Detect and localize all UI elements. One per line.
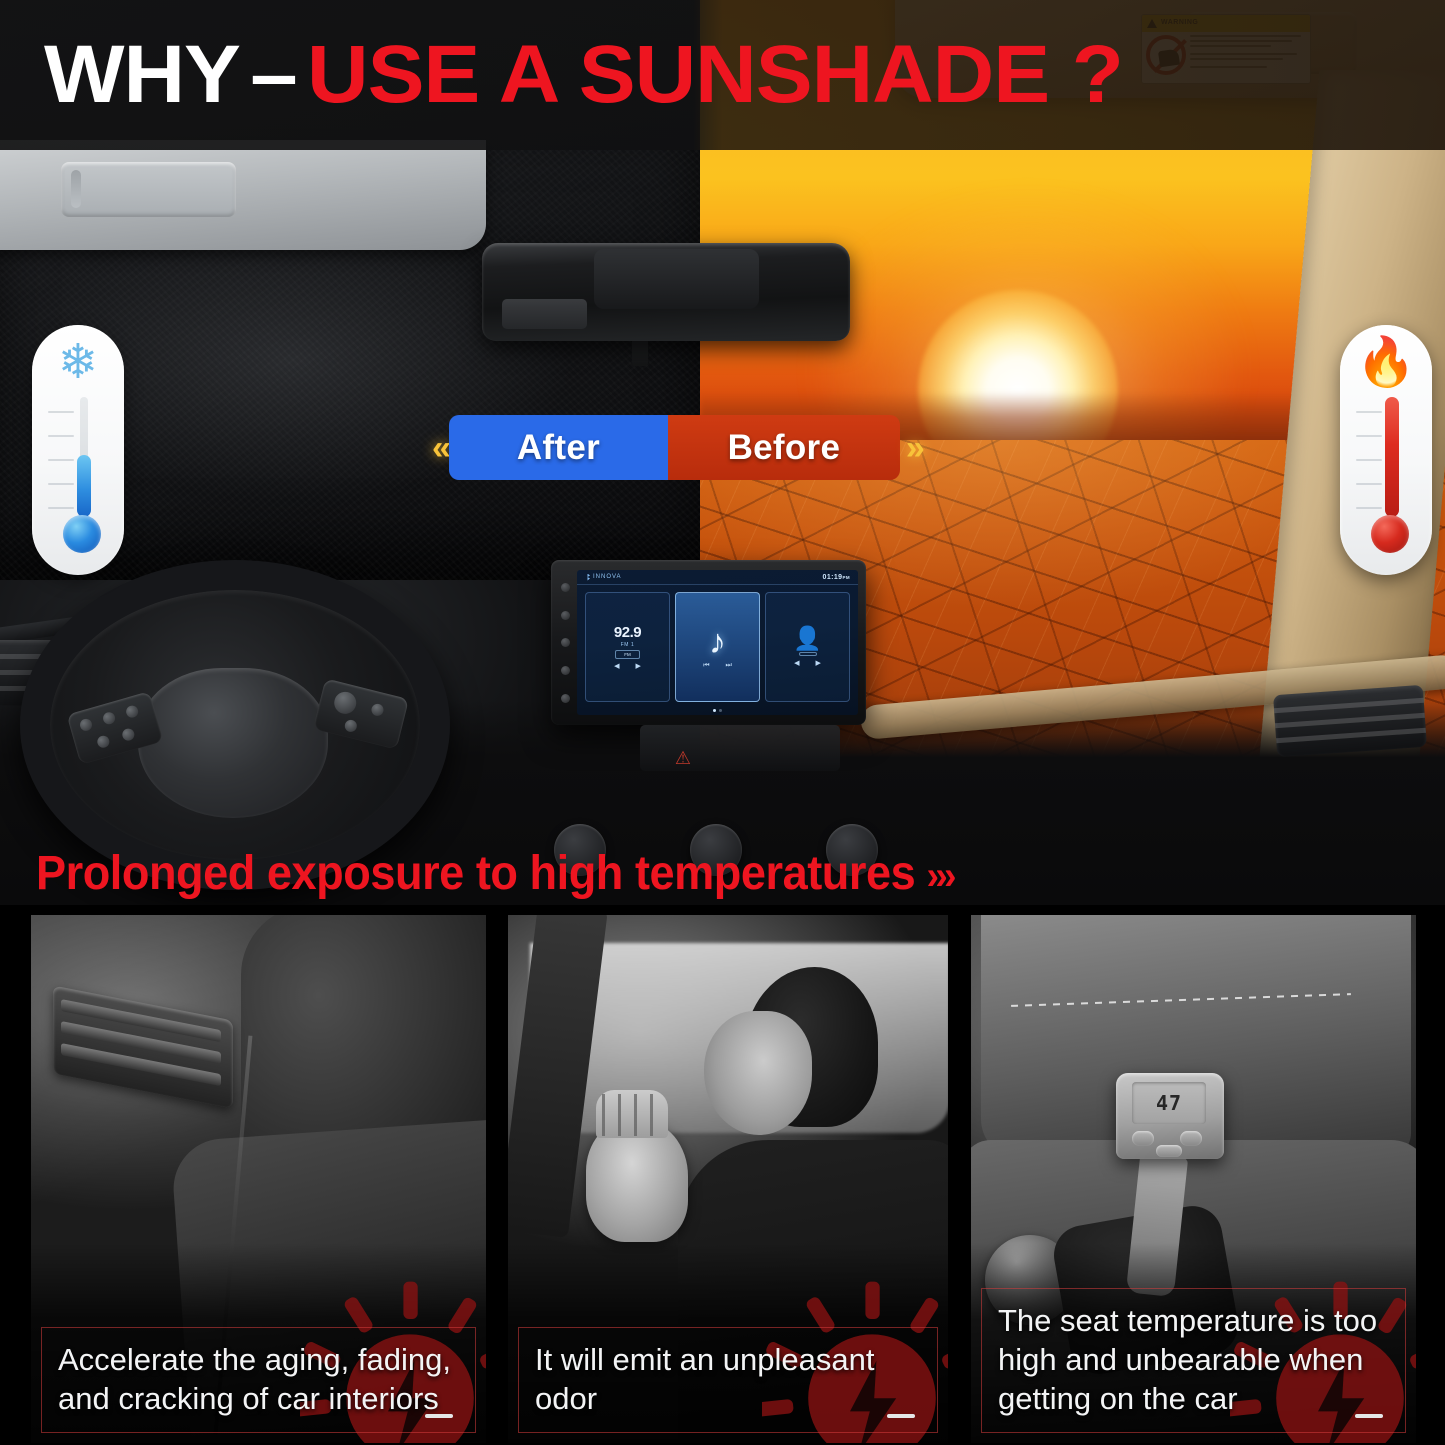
before-badge[interactable]: Before: [668, 415, 900, 480]
panel-caption: Accelerate the aging, fading, and cracki…: [58, 1340, 459, 1418]
radio-band: FM 1: [621, 642, 635, 648]
caption-box: It will emit an unpleasant odor: [518, 1327, 938, 1433]
dashboard-vent-icon: [53, 986, 233, 1109]
hazard-light-icon: ⚠: [668, 745, 698, 771]
head-unit-button-home[interactable]: [561, 694, 570, 703]
thermometer-hot: 🔥: [1340, 325, 1432, 575]
media-transport-arrows[interactable]: ⏮ ⏭: [703, 662, 732, 670]
thermometer-button-1: [1132, 1131, 1154, 1146]
benefit-panels: Accelerate the aging, fading, and cracki…: [0, 915, 1445, 1445]
title-use-a-sunshade: USE A SUNSHADE ?: [307, 29, 1123, 120]
subtitle-arrows-icon: ›››: [926, 854, 952, 898]
ir-thermometer-gun: 47: [1116, 1073, 1224, 1159]
panel-caption: The seat temperature is too high and unb…: [998, 1301, 1389, 1418]
caption-box: The seat temperature is too high and unb…: [981, 1288, 1406, 1433]
infotainment-head-unit[interactable]: INNOVA 01:19PM 92.9 FM 1 FM ◀ ▶: [551, 560, 866, 725]
tile-radio[interactable]: 92.9 FM 1 FM ◀ ▶: [585, 592, 670, 702]
radio-prev-icon[interactable]: ◀: [614, 662, 619, 670]
flame-icon: 🔥: [1340, 339, 1432, 387]
thermometer-cold-tube: [80, 397, 88, 517]
page-title: WHY–USE A SUNSHADE ?: [44, 34, 1123, 116]
head-unit-button-power[interactable]: [561, 583, 570, 592]
head-unit-button-back[interactable]: [561, 666, 570, 675]
thermometer-cold: ❄: [32, 325, 124, 575]
head-unit-page-dots[interactable]: [577, 706, 858, 715]
chevron-left-icon: «: [426, 431, 449, 465]
chevron-right-icon: »: [900, 431, 923, 465]
head-unit-clock: 01:19PM: [823, 574, 850, 581]
head-unit-screen[interactable]: INNOVA 01:19PM 92.9 FM 1 FM ◀ ▶: [577, 570, 858, 715]
page-title-band: WHY–USE A SUNSHADE ?: [0, 0, 1445, 150]
caption-dash: [1355, 1414, 1383, 1418]
phone-prev-icon[interactable]: ◀: [794, 659, 799, 667]
music-note-icon: ♪: [709, 625, 726, 659]
air-vent-right: [1273, 685, 1427, 757]
media-prev-icon[interactable]: ⏮: [703, 662, 709, 670]
phone-chip[interactable]: [799, 652, 817, 656]
product-infographic: WARNING: [0, 0, 1445, 1445]
thermometer-hot-tube: [1388, 397, 1396, 517]
waving-hand-icon: [586, 1120, 688, 1242]
thermometer-reading: 47: [1132, 1082, 1206, 1124]
head-unit-button-volume[interactable]: [561, 638, 570, 647]
visor-clip-left: [61, 162, 236, 217]
head-unit-brand: INNOVA: [585, 574, 622, 581]
thermometer-cold-bulb: [63, 515, 101, 553]
panel-seat-temp: 47: [971, 915, 1416, 1443]
snowflake-icon: ❄: [32, 339, 124, 387]
subtitle-text: Prolonged exposure to high temperatures: [36, 847, 915, 900]
phone-arrows[interactable]: ◀ ▶: [794, 659, 821, 667]
thermometer-hot-fill: [1385, 397, 1399, 517]
radio-frequency: 92.9: [614, 625, 641, 640]
title-dash: –: [250, 29, 296, 120]
media-next-icon[interactable]: ⏭: [726, 662, 732, 670]
panel-odor: It will emit an unpleasant odor: [508, 915, 948, 1443]
subtitle-band: Prolonged exposure to high temperatures›…: [0, 836, 1445, 911]
panel-aging: Accelerate the aging, fading, and cracki…: [31, 915, 486, 1443]
radio-preset-chip[interactable]: FM: [615, 650, 640, 659]
caption-box: Accelerate the aging, fading, and cracki…: [41, 1327, 476, 1433]
sun-visor-left: [0, 140, 486, 250]
after-badge[interactable]: After: [449, 415, 668, 480]
panel-caption: It will emit an unpleasant odor: [535, 1340, 921, 1418]
bluetooth-icon: [585, 574, 590, 581]
head-unit-tiles: 92.9 FM 1 FM ◀ ▶ ♪ ⏮ ⏭: [577, 585, 858, 706]
tile-media[interactable]: ♪ ⏮ ⏭: [675, 592, 760, 702]
caption-dash: [887, 1414, 915, 1418]
face-shape: [704, 1011, 812, 1135]
radio-seek-arrows[interactable]: ◀ ▶: [614, 662, 641, 670]
thermometer-hot-bulb: [1371, 515, 1409, 553]
phone-next-icon[interactable]: ▶: [816, 659, 821, 667]
head-unit-side-buttons[interactable]: [557, 574, 573, 712]
tile-phone[interactable]: 👤 ◀ ▶: [765, 592, 850, 702]
before-after-toggle[interactable]: « After Before »: [426, 415, 923, 480]
thermometer-button-3: [1156, 1145, 1182, 1157]
caption-dash: [425, 1414, 453, 1418]
rearview-mirror: [482, 243, 850, 341]
subtitle: Prolonged exposure to high temperatures›…: [36, 846, 953, 901]
head-unit-status-bar: INNOVA 01:19PM: [577, 570, 858, 585]
head-unit-button-menu[interactable]: [561, 611, 570, 620]
person-icon: 👤: [793, 627, 822, 650]
radio-next-icon[interactable]: ▶: [636, 662, 641, 670]
thermometer-cold-fill: [77, 455, 91, 517]
thermometer-button-2: [1180, 1131, 1202, 1146]
title-why: WHY: [44, 29, 240, 120]
steering-wheel-hub: [138, 668, 328, 818]
